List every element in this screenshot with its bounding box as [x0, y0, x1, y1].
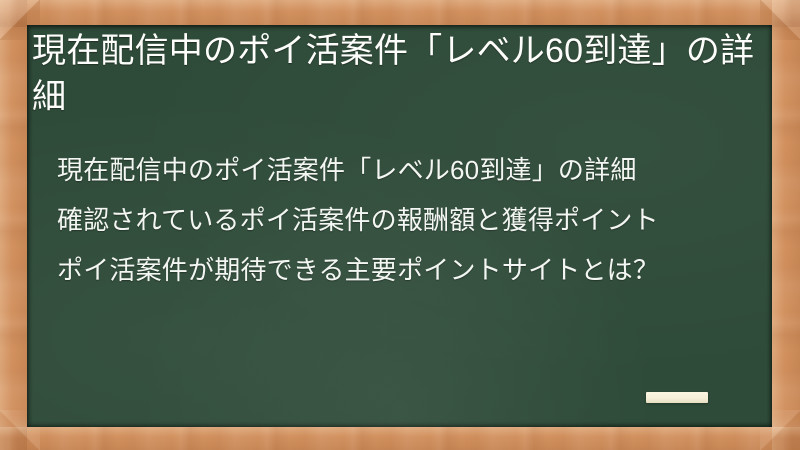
page-title: 現在配信中のポイ活案件「レベル60到達」の詳細: [32, 28, 757, 120]
frame-top-rail: [0, 0, 800, 27]
table-of-contents: 現在配信中のポイ活案件「レベル60到達」の詳細 確認されているポイ活案件の報酬額…: [57, 153, 752, 287]
frame-bottom-ledge: [0, 427, 800, 450]
board-content: 現在配信中のポイ活案件「レベル60到達」の詳細 現在配信中のポイ活案件「レベル6…: [27, 25, 772, 427]
frame-left-rail: [0, 0, 27, 450]
chalkboard-surface: 現在配信中のポイ活案件「レベル60到達」の詳細 現在配信中のポイ活案件「レベル6…: [27, 25, 772, 427]
toc-item[interactable]: 確認されているポイ活案件の報酬額と獲得ポイント: [57, 203, 752, 237]
toc-item[interactable]: ポイ活案件が期待できる主要ポイントサイトとは？: [57, 253, 752, 287]
toc-item[interactable]: 現在配信中のポイ活案件「レベル60到達」の詳細: [57, 153, 752, 187]
frame-right-rail: [772, 0, 800, 450]
chalk-stick: [646, 392, 708, 403]
blackboard-frame: 現在配信中のポイ活案件「レベル60到達」の詳細 現在配信中のポイ活案件「レベル6…: [0, 0, 800, 450]
